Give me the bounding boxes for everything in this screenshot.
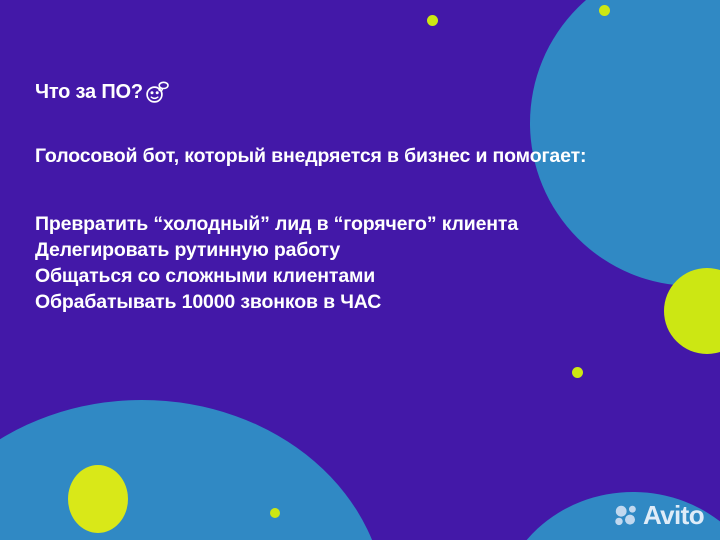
benefit-list: Превратить “холодный” лид в “горячего” к…: [35, 212, 595, 316]
page-title-text: Что за ПО?: [35, 80, 143, 104]
list-item: Общаться со сложными клиентами: [35, 264, 595, 290]
avito-wordmark: Avito: [643, 502, 704, 528]
decor-dot-top-center: [427, 15, 438, 26]
decor-circle-blue-bottomleft: [0, 400, 386, 540]
thinking-smiley-emoji: [145, 81, 169, 103]
avito-dots-logo: [614, 504, 638, 526]
decor-circle-yellow-bottomleft: [68, 465, 128, 533]
page-title: Что за ПО?: [35, 80, 595, 104]
decor-dot-mid-right: [572, 367, 583, 378]
lead-paragraph: Голосовой бот, который внедряется в бизн…: [35, 144, 595, 170]
list-item: Делегировать рутинную работу: [35, 238, 595, 264]
list-item: Превратить “холодный” лид в “горячего” к…: [35, 212, 595, 238]
promo-slide: Что за ПО? Голосовой бот, который внедря…: [0, 0, 720, 540]
avito-watermark: Avito: [614, 502, 704, 528]
decor-dot-bottom-left: [270, 508, 280, 518]
decor-dot-top-right: [599, 5, 610, 16]
list-item: Обрабатывать 10000 звонков в ЧАС: [35, 290, 595, 316]
slide-content: Что за ПО? Голосовой бот, который внедря…: [35, 80, 595, 316]
